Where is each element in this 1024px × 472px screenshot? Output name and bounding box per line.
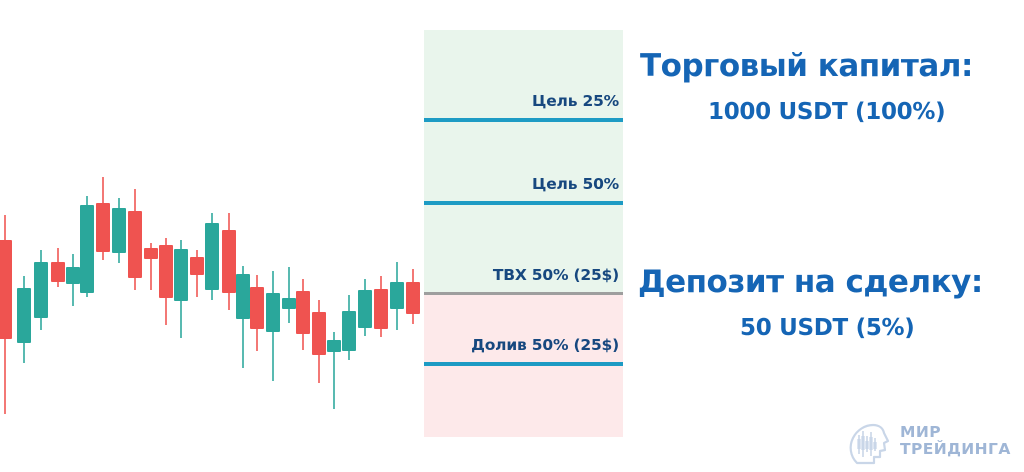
profit-zone [424,30,623,292]
level-line-entry-50 [424,292,623,295]
candle-body [327,340,341,352]
head-candlestick-icon [848,422,894,466]
candle-body [342,311,356,351]
candle-body [80,205,94,293]
level-line-target-50 [424,201,623,205]
candlestick-up [112,0,126,472]
candlestick-down [222,0,236,472]
level-label-target-50: Цель 50% [532,175,619,193]
brand-logo: МИР ТРЕЙДИНГА [848,420,1018,468]
candlestick-down [128,0,142,472]
candlestick-up [66,0,80,472]
trade-deposit-title: Депозит на сделку: [638,264,983,300]
level-label-target-25: Цель 25% [532,92,619,110]
candle-body [17,288,31,343]
candle-body [222,230,236,293]
candlestick-down [250,0,264,472]
logo-line-2: ТРЕЙДИНГА [900,441,1011,458]
candle-body [296,291,310,334]
candlestick-down [374,0,388,472]
candlestick-down [51,0,65,472]
level-label-entry-50: ТВХ 50% (25$) [493,266,619,284]
candlestick-up [342,0,356,472]
candlestick-chart [0,0,430,472]
candle-body [374,289,388,329]
trading-capital-value: 1000 USDT (100%) [708,99,945,125]
candlestick-up [266,0,280,472]
candlestick-up [80,0,94,472]
candlestick-up [390,0,404,472]
candle-body [34,262,48,318]
candle-body [128,211,142,278]
candle-body [66,267,80,284]
candlestick-up [282,0,296,472]
candlestick-up [327,0,341,472]
candlestick-down [296,0,310,472]
candle-body [112,208,126,253]
candlestick-down [312,0,326,472]
candle-body [174,249,188,301]
trade-zone-panel: Цель 25%Цель 50%ТВХ 50% (25$)Долив 50% (… [424,30,623,437]
candle-body [390,282,404,309]
candle-body [312,312,326,355]
candle-body [0,240,12,339]
candlestick-down [159,0,173,472]
logo-line-1: МИР [900,424,1011,441]
candlestick-up [17,0,31,472]
candlestick-down [0,0,12,472]
candlestick-down [144,0,158,472]
candlestick-down [190,0,204,472]
candlestick-up [358,0,372,472]
candle-body [266,293,280,332]
level-label-refill-50: Долив 50% (25$) [471,336,619,354]
infographic-canvas: Цель 25%Цель 50%ТВХ 50% (25$)Долив 50% (… [0,0,1024,472]
candlestick-up [236,0,250,472]
candle-body [190,257,204,275]
candle-body [358,290,372,328]
candle-body [406,282,420,314]
candle-body [205,223,219,290]
logo-wordmark: МИР ТРЕЙДИНГА [900,424,1011,458]
candle-body [51,262,65,282]
trade-deposit-value: 50 USDT (5%) [740,315,915,341]
candlestick-down [406,0,420,472]
candle-body [144,248,158,259]
candle-body [282,298,296,309]
candle-body [236,274,250,319]
level-line-target-25 [424,118,623,122]
candle-body [96,203,110,252]
candlestick-up [205,0,219,472]
candlestick-up [174,0,188,472]
candlestick-down [96,0,110,472]
candlestick-up [34,0,48,472]
trading-capital-title: Торговый капитал: [640,48,973,84]
level-line-refill-50 [424,362,623,366]
candle-body [250,287,264,329]
candle-wick [288,267,290,323]
candle-body [159,245,173,298]
